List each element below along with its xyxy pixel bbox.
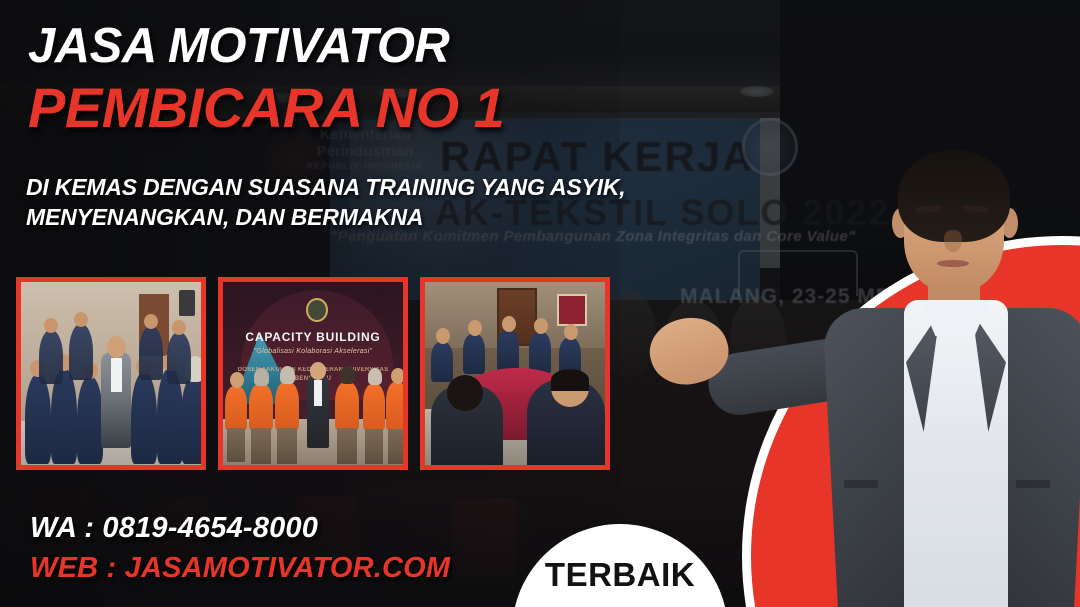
photo2-attendee-head	[391, 368, 405, 384]
photo1-attendee	[131, 372, 157, 464]
photo2-attendee-hijab	[280, 366, 295, 384]
photo2-attendee	[363, 384, 385, 430]
speaker-eye-left	[919, 218, 938, 226]
photo2-attendee-skirt	[337, 428, 357, 464]
photo1-attendee	[39, 330, 63, 384]
photo3-participant	[497, 330, 519, 372]
photo1-attendee	[181, 374, 206, 464]
speaker-pocket	[844, 480, 878, 488]
photo3-foreground-hair-right	[551, 369, 589, 391]
photo1-speaker-shirt	[111, 358, 122, 392]
photo1-attendee	[139, 326, 163, 380]
photo2-attendee-head	[230, 372, 244, 388]
photo-thumbnail-3[interactable]	[420, 277, 610, 470]
photo-1-content	[21, 282, 201, 465]
photo1-attendee	[167, 332, 191, 384]
headline-primary: JASA MOTIVATOR	[28, 22, 449, 71]
photo1-speaker-head	[107, 336, 126, 358]
photo3-participant-head	[436, 328, 450, 344]
photo2-attendee-skirt	[277, 428, 297, 464]
photo-2-content: CAPACITY BUILDING "Globalisasi Kolaboras…	[223, 282, 403, 465]
photo2-attendee-skirt	[227, 428, 245, 462]
photo-gallery: CAPACITY BUILDING "Globalisasi Kolaboras…	[16, 277, 610, 470]
photo2-attendee-skirt	[365, 429, 383, 464]
photo2-attendee-hijab	[340, 366, 355, 384]
photo2-university-logo	[306, 298, 328, 322]
promotional-banner: Kementerian Perindustrian REPUBLIK INDON…	[0, 0, 1080, 607]
photo3-participant	[431, 342, 453, 382]
photo1-attendee	[77, 376, 103, 464]
photo1-attendee	[25, 374, 51, 464]
photo2-attendee	[249, 384, 273, 430]
photo2-attendee	[386, 382, 408, 430]
speaker-mouth	[937, 260, 969, 267]
terbaik-badge-label: TERBAIK	[512, 556, 728, 594]
photo1-attendee-head	[144, 314, 158, 329]
photo1-attendee-head	[172, 320, 186, 335]
speaker-hair	[898, 150, 1010, 242]
speaker-eye-right	[966, 218, 985, 226]
photo3-participant-head	[502, 316, 516, 332]
subheading-line1: DI KEMAS DENGAN SUASANA TRAINING YANG AS…	[26, 172, 625, 202]
photo3-participant	[529, 332, 551, 374]
speaker-nose	[944, 230, 962, 252]
website-contact[interactable]: WEB : JASAMOTIVATOR.COM	[30, 552, 450, 585]
photo2-attendee	[225, 386, 247, 430]
photo3-participant-head	[564, 324, 578, 340]
subheading-line2: MENYENANGKAN, DAN BERMAKNA	[26, 202, 625, 232]
photo2-speaker-head	[310, 362, 326, 380]
speaker-portrait	[820, 150, 1080, 607]
photo2-banner-title: CAPACITY BUILDING	[223, 330, 403, 344]
headline-secondary: PEMBICARA NO 1	[28, 80, 504, 136]
photo2-banner-subtitle: "Globalisasi Kolaborasi Akselerasi"	[223, 348, 403, 355]
photo2-attendee	[275, 382, 299, 430]
photo3-wall-frame	[557, 294, 587, 326]
photo1-attendee-head	[44, 318, 58, 333]
photo2-attendee-hijab	[254, 368, 269, 386]
photo1-attendee	[69, 324, 93, 380]
photo2-attendee-hijab	[368, 368, 382, 385]
photo3-participant-head	[468, 320, 482, 336]
photo-thumbnail-2[interactable]: CAPACITY BUILDING "Globalisasi Kolaboras…	[218, 277, 408, 470]
speaker-pocket	[1016, 480, 1050, 488]
photo1-attendee-head	[74, 312, 88, 327]
photo2-attendee-skirt	[388, 429, 406, 464]
photo2-attendee-skirt	[251, 428, 271, 464]
photo-thumbnail-1[interactable]	[16, 277, 206, 470]
subheading: DI KEMAS DENGAN SUASANA TRAINING YANG AS…	[26, 172, 625, 233]
photo2-attendee	[335, 382, 359, 430]
photo3-participant-head	[534, 318, 548, 334]
photo2-speaker-shirt	[314, 380, 322, 406]
photo-3-content	[425, 282, 605, 465]
photo3-foreground-head-left	[447, 375, 483, 411]
photo3-participant	[463, 334, 485, 374]
photo1-speaker-box	[179, 290, 195, 316]
whatsapp-contact[interactable]: WA : 0819-4654-8000	[30, 512, 318, 545]
